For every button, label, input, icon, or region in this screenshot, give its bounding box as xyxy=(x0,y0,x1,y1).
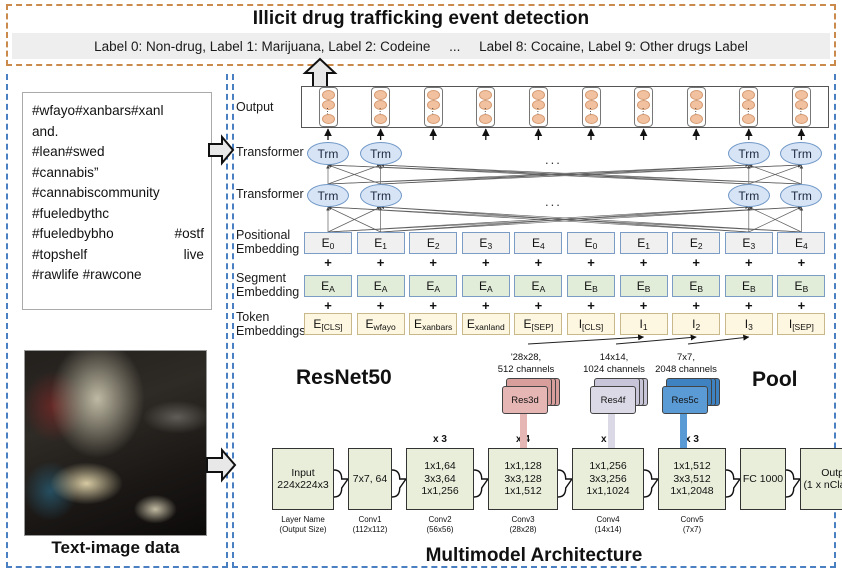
positional-embedding-box: E2 xyxy=(409,232,457,254)
output-neuron-column: ⋮ xyxy=(739,87,758,127)
segment-embedding-label: EA xyxy=(532,279,546,294)
cnn-block-line: 1x1,512 xyxy=(504,485,541,498)
feature-map-stem xyxy=(608,414,615,448)
neuron-dot xyxy=(374,114,387,124)
neuron-dot xyxy=(427,114,440,124)
cnn-block-line: 3x3,128 xyxy=(504,473,541,486)
output-neuron-column: ⋮ xyxy=(529,87,548,127)
segment-embedding-box: EA xyxy=(409,275,457,297)
plus-segment-token: + xyxy=(791,298,811,313)
token-embedding-label: Exanbars xyxy=(414,317,452,332)
positional-embedding-label: E0 xyxy=(322,236,335,251)
plus-segment-token: + xyxy=(371,298,391,313)
token-embedding-box: I2 xyxy=(672,313,720,335)
transformer-node-top: Trm xyxy=(307,142,349,165)
plus-segment-token: + xyxy=(634,298,654,313)
cnn-block-line: 224x224x3 xyxy=(277,479,328,492)
plus-segment-token: + xyxy=(476,298,496,313)
cnn-block-caption: Conv4(14x14) xyxy=(558,515,658,534)
feature-map-stack: Res5c xyxy=(662,378,720,414)
caption-line: Conv5 xyxy=(644,515,740,525)
feature-map-label: Res4f xyxy=(590,386,636,414)
caption-line: Conv4 xyxy=(558,515,658,525)
token-embedding-box: I3 xyxy=(725,313,773,335)
transformer-node-bottom: Trm xyxy=(728,184,770,207)
text-line: and. xyxy=(32,122,204,143)
text-line: #topshelf live xyxy=(32,245,204,266)
plus-positional-segment: + xyxy=(581,255,601,270)
cnn-block-repeat: x 3 xyxy=(658,434,726,445)
text-fragment: #fueledbybho xyxy=(32,224,114,245)
positional-embedding-label: E1 xyxy=(374,236,387,251)
neuron-dot xyxy=(532,114,545,124)
cnn-block: 1x1,2563x3,2561x1,1024 xyxy=(572,448,644,510)
plus-positional-segment: + xyxy=(739,255,759,270)
cnn-block: 1x1,5123x3,5121x1,2048 xyxy=(658,448,726,510)
row-label-output: Output xyxy=(236,101,274,115)
caption-line: 512 channels xyxy=(480,364,572,376)
text-line: #fueledbybho #ostf xyxy=(32,224,204,245)
plus-segment-token: + xyxy=(581,298,601,313)
cnn-block: Input224x224x3 xyxy=(272,448,334,510)
image-to-resnet-arrow xyxy=(206,448,236,482)
output-neuron-column: ⋮ xyxy=(319,87,338,127)
positional-embedding-box: E2 xyxy=(672,232,720,254)
cnn-block-line: 3x3,256 xyxy=(589,473,626,486)
neuron-dot xyxy=(637,114,650,124)
segment-embedding-label: EA xyxy=(321,279,335,294)
segment-embedding-label: EB xyxy=(689,279,703,294)
transformer-top-ellipsis: ... xyxy=(545,152,562,167)
plus-segment-token: + xyxy=(318,298,338,313)
segment-embedding-box: EB xyxy=(567,275,615,297)
neuron-dot xyxy=(374,90,387,100)
token-embedding-label: I3 xyxy=(745,317,753,332)
page-title: Illicit drug trafficking event detection xyxy=(6,8,836,30)
cnn-block-line: FC 1000 xyxy=(743,473,783,486)
token-embedding-box: Exanland xyxy=(462,313,510,335)
neuron-dot xyxy=(532,90,545,100)
token-embedding-label: Exanland xyxy=(467,317,505,332)
segment-embedding-label: EB xyxy=(795,279,809,294)
feature-map-label: Res5c xyxy=(662,386,708,414)
segment-embedding-label: EA xyxy=(426,279,440,294)
feature-map-caption: '28x28,512 channels xyxy=(480,352,572,375)
positional-embedding-box: E4 xyxy=(777,232,825,254)
neuron-dot xyxy=(322,90,335,100)
positional-embedding-box: E3 xyxy=(725,232,773,254)
neuron-dot xyxy=(795,114,808,124)
output-to-label-arrow xyxy=(300,58,340,88)
token-embedding-box: I1 xyxy=(620,313,668,335)
segment-embedding-box: EA xyxy=(514,275,562,297)
segment-embedding-box: EA xyxy=(304,275,352,297)
positional-embedding-box: E4 xyxy=(514,232,562,254)
plus-positional-segment: + xyxy=(686,255,706,270)
segment-embedding-box: EB xyxy=(725,275,773,297)
segment-embedding-label: EA xyxy=(374,279,388,294)
neuron-dot xyxy=(585,90,598,100)
neuron-dot xyxy=(322,114,335,124)
text-line: #cannabiscommunity xyxy=(32,183,204,204)
cnn-block-line: 7x7, 64 xyxy=(353,473,387,486)
positional-embedding-label: E3 xyxy=(479,236,492,251)
architecture-footer-title: Multimodel Architecture xyxy=(232,545,836,567)
row-label-token-embeddings: Token Embeddings xyxy=(236,311,306,338)
token-embedding-box: Ewfayo xyxy=(357,313,405,335)
feature-map-stack: Res3d xyxy=(502,378,560,414)
drug-photo xyxy=(24,350,207,536)
cnn-block: 1x1,1283x3,1281x1,512 xyxy=(488,448,558,510)
neuron-dot xyxy=(585,114,598,124)
text-line: #lean#swed xyxy=(32,142,204,163)
text-line: #wfayo#xanbars#xanl xyxy=(32,101,204,122)
positional-embedding-label: E4 xyxy=(532,236,545,251)
positional-embedding-box: E0 xyxy=(304,232,352,254)
text-fragment: live xyxy=(184,245,204,266)
token-embedding-label: E[CLS] xyxy=(313,317,342,332)
segment-embedding-label: EB xyxy=(584,279,598,294)
positional-embedding-label: E2 xyxy=(690,236,703,251)
positional-embedding-box: E0 xyxy=(567,232,615,254)
neuron-dot xyxy=(690,90,703,100)
feature-map-caption: 7x7,2048 channels xyxy=(640,352,732,375)
plus-positional-segment: + xyxy=(423,255,443,270)
segment-embedding-box: EB xyxy=(672,275,720,297)
positional-embedding-label: E4 xyxy=(795,236,808,251)
cnn-block-line: 3x3,512 xyxy=(673,473,710,486)
segment-embedding-box: EA xyxy=(357,275,405,297)
text-to-bert-arrow xyxy=(208,135,234,165)
feature-map-stem xyxy=(680,414,687,448)
plus-positional-segment: + xyxy=(528,255,548,270)
positional-embedding-box: E1 xyxy=(357,232,405,254)
transformer-node-top: Trm xyxy=(728,142,770,165)
cnn-block: FC 1000 xyxy=(740,448,786,510)
caption-line: 7x7, xyxy=(640,352,732,364)
output-neuron-column: ⋮ xyxy=(424,87,443,127)
neuron-dot xyxy=(742,114,755,124)
resnet-title: ResNet50 xyxy=(296,366,392,390)
feature-map-label: Res3d xyxy=(502,386,548,414)
row-label-segment-embedding: Segment Embedding xyxy=(236,272,299,299)
neuron-dot xyxy=(637,90,650,100)
plus-positional-segment: + xyxy=(634,255,654,270)
cnn-block-line: 1x1,256 xyxy=(421,485,458,498)
cnn-block-line: 1x1,2048 xyxy=(670,485,713,498)
token-embedding-label: I2 xyxy=(692,317,700,332)
segment-embedding-label: EA xyxy=(479,279,493,294)
token-embedding-label: I[CLS] xyxy=(579,317,604,332)
cnn-block: 1x1,643x3,641x1,256 xyxy=(406,448,474,510)
plus-positional-segment: + xyxy=(318,255,338,270)
pool-title: Pool xyxy=(752,368,798,392)
plus-positional-segment: + xyxy=(371,255,391,270)
cnn-block-line: Output xyxy=(821,467,842,480)
transformer-node-bottom: Trm xyxy=(307,184,349,207)
text-fragment: #ostf xyxy=(175,224,204,245)
positional-embedding-label: E0 xyxy=(585,236,598,251)
token-embedding-box: I[SEP] xyxy=(777,313,825,335)
token-embedding-box: Exanbars xyxy=(409,313,457,335)
row-label-transformer-top: Transformer xyxy=(236,146,304,160)
feature-map-stem xyxy=(520,414,527,448)
cnn-block-line: 3x3,64 xyxy=(424,473,456,486)
cnn-block-line: 1x1,512 xyxy=(673,460,710,473)
plus-positional-segment: + xyxy=(476,255,496,270)
transformer-bottom-ellipsis: ... xyxy=(545,194,562,209)
plus-positional-segment: + xyxy=(791,255,811,270)
segment-embedding-box: EA xyxy=(462,275,510,297)
token-embedding-label: E[SEP] xyxy=(524,317,554,332)
caption-line: 2048 channels xyxy=(640,364,732,376)
cnn-block: 7x7, 64 xyxy=(348,448,392,510)
output-neuron-column: ⋮ xyxy=(582,87,601,127)
positional-embedding-box: E1 xyxy=(620,232,668,254)
label-legend-bar: Label 0: Non-drug, Label 1: Marijuana, L… xyxy=(12,33,830,59)
output-neuron-column: ⋮ xyxy=(687,87,706,127)
positional-embedding-label: E2 xyxy=(427,236,440,251)
figure-root: Illicit drug trafficking event detection… xyxy=(0,0,842,575)
text-line: #rawlife #rawcone xyxy=(32,265,204,286)
plus-segment-token: + xyxy=(686,298,706,313)
row-label-transformer-bottom: Transformer xyxy=(236,188,304,202)
cnn-block-line: (1 x nClasses) xyxy=(803,479,842,492)
token-embedding-box: I[CLS] xyxy=(567,313,615,335)
feature-map-stack: Res4f xyxy=(590,378,648,414)
text-line: #cannabis” xyxy=(32,163,204,184)
positional-embedding-label: E3 xyxy=(742,236,755,251)
left-panel-caption: Text-image data xyxy=(24,538,207,558)
neuron-dot xyxy=(690,114,703,124)
cnn-block: Output(1 x nClasses) xyxy=(800,448,842,510)
segment-embedding-box: EB xyxy=(777,275,825,297)
caption-line: (14x14) xyxy=(558,525,658,535)
segment-embedding-label: EB xyxy=(742,279,756,294)
output-neuron-column: ⋮ xyxy=(476,87,495,127)
neuron-dot xyxy=(479,90,492,100)
token-embedding-label: I1 xyxy=(640,317,648,332)
row-label-positional-embedding: Positional Embedding xyxy=(236,229,299,256)
positional-embedding-label: E1 xyxy=(637,236,650,251)
cnn-block-line: 1x1,64 xyxy=(424,460,456,473)
caption-line: '28x28, xyxy=(480,352,572,364)
cnn-block-line: 1x1,256 xyxy=(589,460,626,473)
transformer-node-bottom: Trm xyxy=(360,184,402,207)
cnn-block-line: 1x1,128 xyxy=(504,460,541,473)
output-neuron-column: ⋮ xyxy=(634,87,653,127)
cnn-block-line: Input xyxy=(291,467,314,480)
neuron-dot xyxy=(479,114,492,124)
transformer-node-top: Trm xyxy=(360,142,402,165)
neuron-dot xyxy=(427,90,440,100)
plus-segment-token: + xyxy=(739,298,759,313)
output-neuron-column: ⋮ xyxy=(371,87,390,127)
token-embedding-box: E[CLS] xyxy=(304,313,352,335)
plus-segment-token: + xyxy=(423,298,443,313)
cnn-block-caption: Conv5(7x7) xyxy=(644,515,740,534)
token-embedding-label: I[SEP] xyxy=(789,317,814,332)
cnn-block-repeat: x 3 xyxy=(406,434,474,445)
cnn-block-line: 1x1,1024 xyxy=(586,485,629,498)
output-neuron-column: ⋮ xyxy=(792,87,811,127)
text-line: #fueledbythc xyxy=(32,204,204,225)
text-fragment: #topshelf xyxy=(32,245,87,266)
positional-embedding-box: E3 xyxy=(462,232,510,254)
neuron-dot xyxy=(742,90,755,100)
plus-segment-token: + xyxy=(528,298,548,313)
neuron-dot xyxy=(795,90,808,100)
token-embedding-box: E[SEP] xyxy=(514,313,562,335)
caption-line: (7x7) xyxy=(644,525,740,535)
token-embedding-label: Ewfayo xyxy=(365,317,395,332)
segment-embedding-box: EB xyxy=(620,275,668,297)
sample-image xyxy=(24,350,207,536)
sample-text-box: #wfayo#xanbars#xanl and. #lean#swed #can… xyxy=(22,92,212,310)
segment-embedding-label: EB xyxy=(637,279,651,294)
